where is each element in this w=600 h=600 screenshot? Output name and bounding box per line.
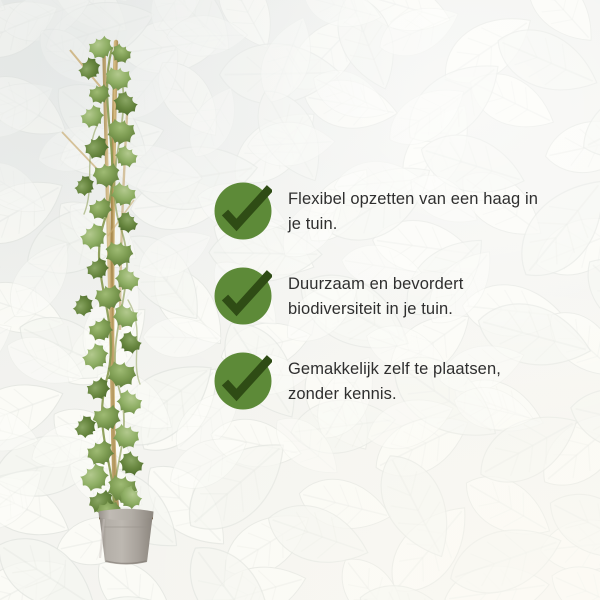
feature-list: Flexibel opzetten van een haag in je tui… bbox=[214, 182, 554, 437]
feature-text: Gemakkelijk zelf te plaatsen, zonder ken… bbox=[288, 357, 550, 407]
check-circle-icon bbox=[214, 352, 272, 410]
check-circle-icon bbox=[214, 267, 272, 325]
feature-item: Duurzaam en bevordert biodiversiteit in … bbox=[214, 267, 554, 352]
product-image bbox=[0, 0, 220, 600]
feature-item: Gemakkelijk zelf te plaatsen, zonder ken… bbox=[214, 352, 554, 437]
check-circle-icon bbox=[214, 182, 272, 240]
climbing-ivy-plant-illustration bbox=[0, 0, 220, 600]
feature-item: Flexibel opzetten van een haag in je tui… bbox=[214, 182, 554, 267]
feature-text: Flexibel opzetten van een haag in je tui… bbox=[288, 187, 550, 237]
nursery-pot bbox=[99, 509, 154, 565]
product-feature-banner: Flexibel opzetten van een haag in je tui… bbox=[0, 0, 600, 600]
feature-text: Duurzaam en bevordert biodiversiteit in … bbox=[288, 272, 550, 322]
